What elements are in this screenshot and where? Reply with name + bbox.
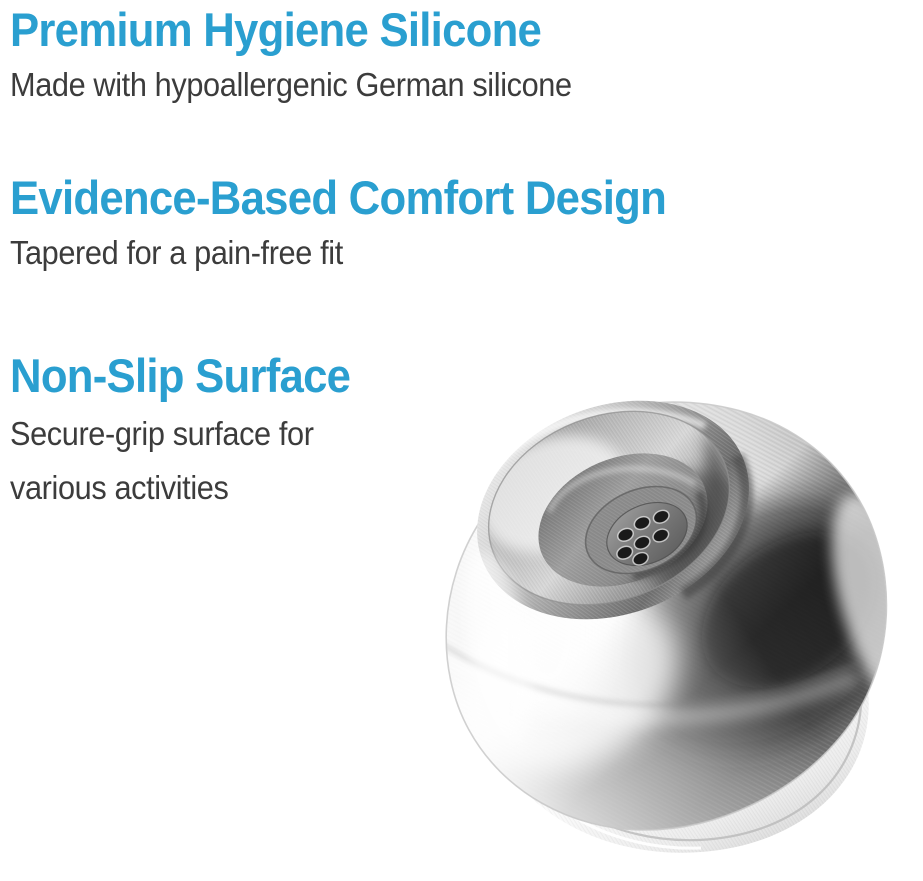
feature-block-premium-hygiene-silicone: Premium Hygiene Silicone Made with hypoa… <box>10 2 614 106</box>
feature-block-evidence-based-comfort-design: Evidence-Based Comfort Design Tapered fo… <box>10 170 715 274</box>
feature-subtitle-non-slip-surface-line-2: various activities <box>10 464 350 512</box>
product-image-silicone-ear-tip <box>437 396 899 866</box>
feature-heading-non-slip-surface: Non-Slip Surface <box>10 348 350 404</box>
feature-subtitle-non-slip-surface-line-1: Secure-grip surface for <box>10 410 350 458</box>
feature-heading-premium-hygiene-silicone: Premium Hygiene Silicone <box>10 2 572 58</box>
infographic-page: Premium Hygiene Silicone Made with hypoa… <box>0 0 923 881</box>
feature-heading-evidence-based-comfort-design: Evidence-Based Comfort Design <box>10 170 666 226</box>
feature-subtitle-evidence-based-comfort-design: Tapered for a pain-free fit <box>10 232 666 274</box>
feature-block-non-slip-surface: Non-Slip Surface Secure-grip surface for… <box>10 348 376 512</box>
feature-subtitle-premium-hygiene-silicone: Made with hypoallergenic German silicone <box>10 64 572 106</box>
